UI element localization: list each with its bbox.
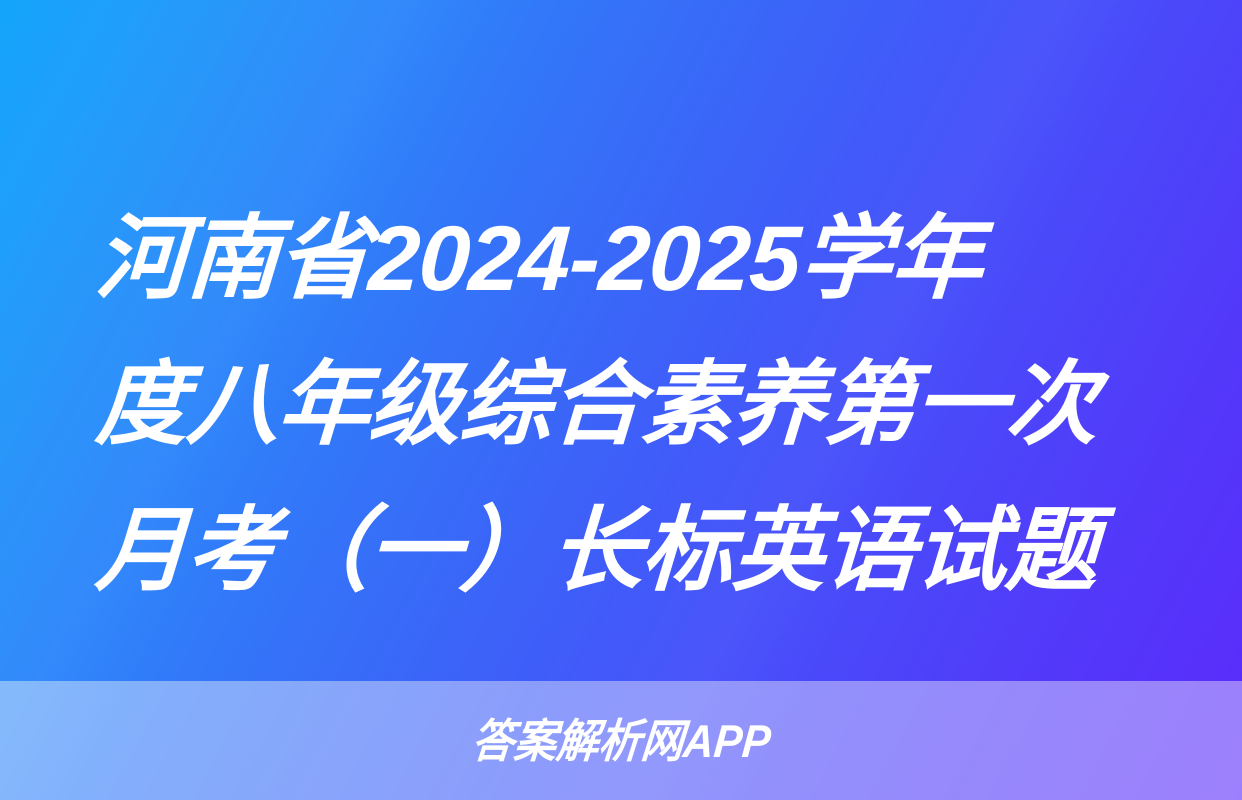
title-line-3: 月考（一）长标英语试题 xyxy=(92,478,1170,624)
title-line-1: 河南省2024-2025学年 xyxy=(92,186,1170,332)
watermark-band: 答案解析网APP xyxy=(0,681,1242,800)
page-title: 河南省2024-2025学年 度八年级综合素养第一次 月考（一）长标英语试题 xyxy=(92,186,1162,624)
cover-card: 河南省2024-2025学年 度八年级综合素养第一次 月考（一）长标英语试题 答… xyxy=(0,0,1242,800)
title-line-2: 度八年级综合素养第一次 xyxy=(92,332,1170,478)
watermark-brand-label: 答案解析网APP xyxy=(470,718,773,764)
